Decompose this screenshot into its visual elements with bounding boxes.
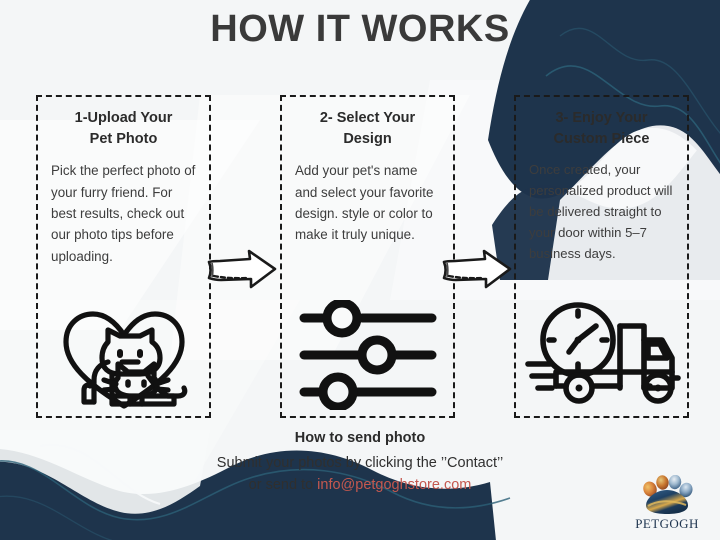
- step-2-body: Add your pet's name and select your favo…: [295, 160, 440, 246]
- step-2-icon-wrap: [282, 300, 453, 410]
- brand-name: PETGOGH: [628, 516, 706, 532]
- fast-delivery-truck-icon: [522, 300, 682, 408]
- contact-email-link[interactable]: info@petgoghstore.com: [317, 477, 471, 493]
- step-3-title-line1: 3- Enjoy Your: [555, 110, 647, 126]
- footer-heading: How to send photo: [0, 430, 720, 446]
- step-1-title-line1: 1-Upload Your: [75, 110, 173, 126]
- arrow-step2-to-step3: [441, 248, 513, 292]
- step-2-title: 2- Select Your Design: [295, 108, 440, 149]
- step-3-body: Once created, your personalized product …: [529, 160, 674, 265]
- step-card-3: 3- Enjoy Your Custom Piece Once created,…: [514, 95, 689, 418]
- footer-instruction-line: Submit your photos by clicking the ’’Con…: [0, 452, 720, 474]
- sketch-arrow-right-icon: [441, 248, 513, 292]
- page-title: HOW IT WORKS: [0, 8, 720, 51]
- step-card-2: 2- Select Your Design Add your pet's nam…: [280, 95, 455, 418]
- sketch-arrow-right-icon: [206, 248, 278, 292]
- footer-email-prefix: or send to: [249, 477, 318, 493]
- sliders-icon: [296, 300, 439, 410]
- step-card-1: 1-Upload Your Pet Photo Pick the perfect…: [36, 95, 211, 418]
- step-1-body: Pick the perfect photo of your furry fri…: [51, 160, 196, 267]
- brand-logo: PETGOGH: [628, 475, 706, 532]
- paw-print-icon: [639, 475, 695, 515]
- step-2-title-line1: 2- Select Your: [320, 110, 415, 126]
- step-1-icon-wrap: [38, 302, 209, 414]
- arrow-step1-to-step2: [206, 248, 278, 292]
- footer-email-line: or send to info@petgoghstore.com: [0, 474, 720, 496]
- step-3-title-line2: Custom Piece: [554, 131, 650, 147]
- dog-cat-heart-icon: [48, 302, 200, 414]
- step-1-title: 1-Upload Your Pet Photo: [51, 108, 196, 149]
- step-3-icon-wrap: [516, 300, 687, 408]
- step-3-title: 3- Enjoy Your Custom Piece: [529, 108, 674, 149]
- infographic-page: HOW IT WORKS 1-Upload Your Pet Photo Pic…: [0, 0, 720, 540]
- footer-contact-block: How to send photo Submit your photos by …: [0, 430, 720, 496]
- step-1-title-line2: Pet Photo: [90, 131, 158, 147]
- step-2-title-line2: Design: [343, 131, 391, 147]
